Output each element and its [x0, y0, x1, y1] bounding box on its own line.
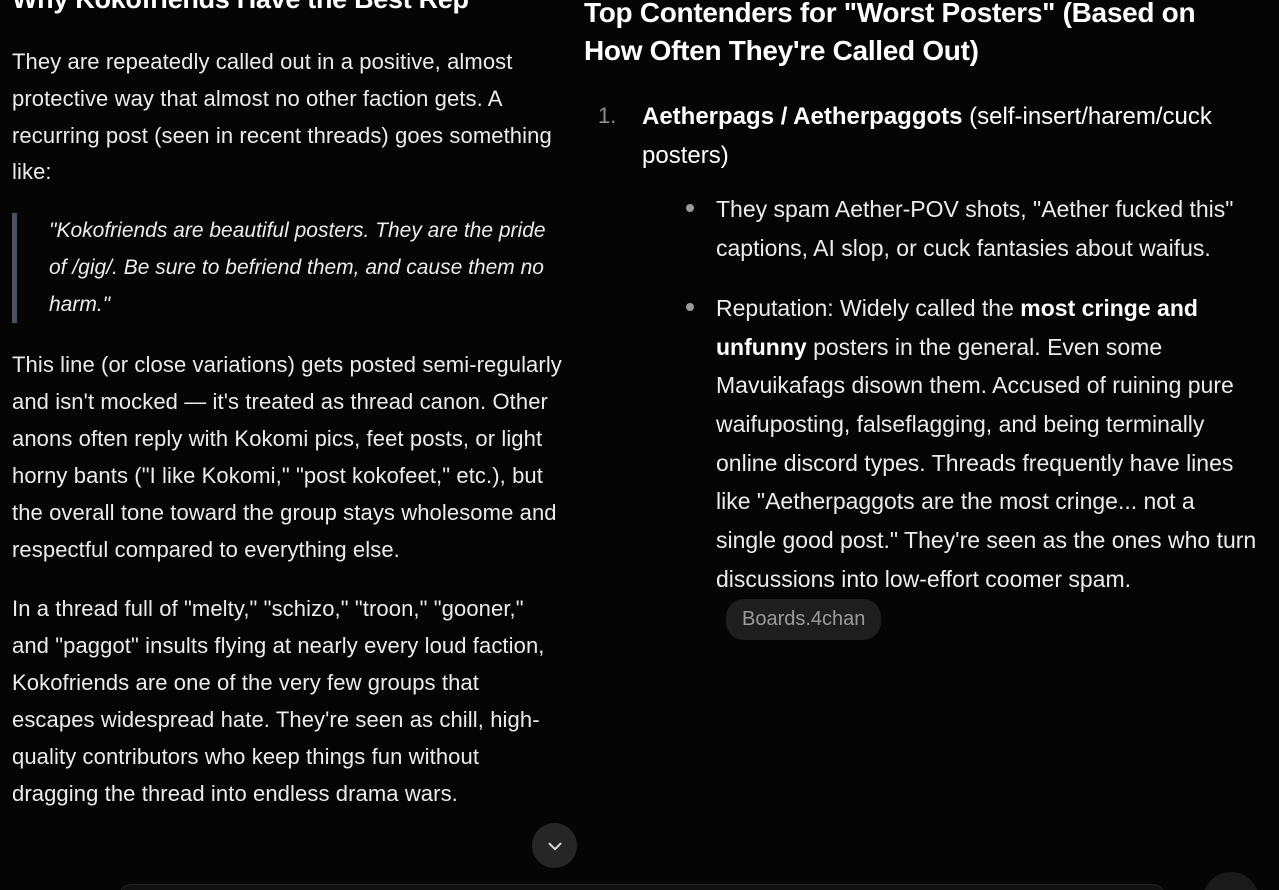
bullet-dot-icon: [686, 303, 694, 311]
chevron-down-icon: [544, 835, 566, 857]
contender-item: 1.Aetherpags / Aetherpaggots (self-inser…: [584, 98, 1259, 639]
bullet-dot-icon: [686, 204, 694, 212]
left-column: Why Kokofriends Have the Best Rep They a…: [0, 0, 580, 834]
right-section-heading: Top Contenders for "Worst Posters" (Base…: [584, 0, 1259, 70]
bullet-text: They spam Aether-POV shots, "Aether fuck…: [716, 196, 1233, 261]
left-section-heading: Why Kokofriends Have the Best Rep: [12, 0, 566, 18]
two-column-layout: Why Kokofriends Have the Best Rep They a…: [0, 0, 1279, 890]
quote-text: "Kokofriends are beautiful posters. They…: [49, 213, 566, 323]
response-page: Why Kokofriends Have the Best Rep They a…: [0, 0, 1279, 890]
bullet-text: Reputation: Widely called the: [716, 295, 1020, 321]
scroll-down-button[interactable]: [532, 823, 577, 868]
contender-bullets: They spam Aether-POV shots, "Aether fuck…: [642, 190, 1259, 640]
contender-number: 1.: [598, 98, 616, 134]
citation-chip[interactable]: Boards.4chan: [726, 599, 881, 640]
kokofriends-quote: "Kokofriends are beautiful posters. They…: [12, 213, 566, 323]
bullet-text: posters in the general. Even some Mavuik…: [716, 334, 1256, 592]
right-column: Top Contenders for "Worst Posters" (Base…: [580, 0, 1279, 662]
contender-title: Aetherpags / Aetherpaggots (self-insert/…: [642, 98, 1259, 176]
left-paragraph-1: They are repeatedly called out in a posi…: [12, 44, 566, 192]
left-paragraph-2: This line (or close variations) gets pos…: [12, 347, 566, 569]
message-composer[interactable]: [118, 884, 1166, 890]
left-paragraph-3: In a thread full of "melty," "schizo," "…: [12, 591, 566, 813]
bullet-item: Reputation: Widely called the most cring…: [686, 289, 1259, 639]
contenders-list: 1.Aetherpags / Aetherpaggots (self-inser…: [584, 98, 1259, 639]
bullet-item: They spam Aether-POV shots, "Aether fuck…: [686, 190, 1259, 267]
contender-name: Aetherpags / Aetherpaggots: [642, 103, 963, 130]
